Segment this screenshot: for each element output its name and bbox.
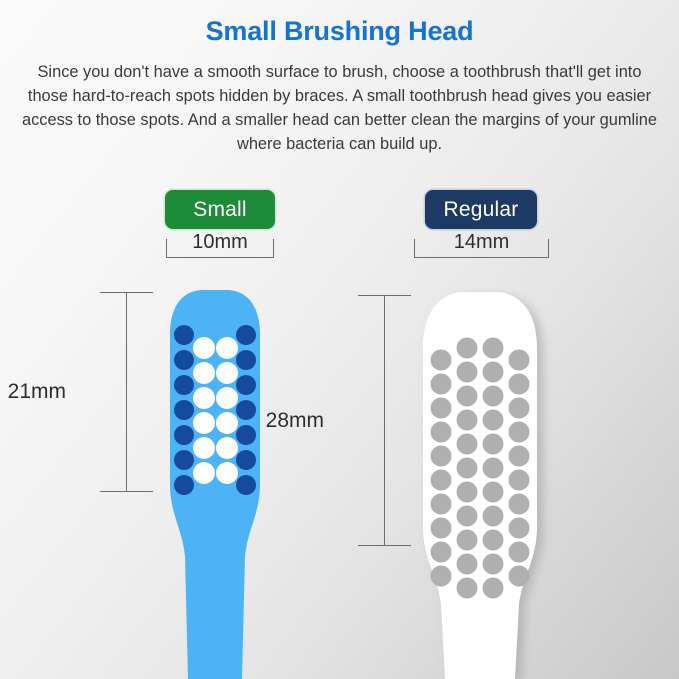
page-title: Small Brushing Head (0, 16, 679, 47)
dimension-label-small-width: 10mm (166, 231, 274, 254)
badge-small: Small (165, 190, 275, 229)
dimension-bar (166, 257, 274, 258)
toothbrush-small (150, 288, 280, 679)
dimension-bar (414, 257, 549, 258)
toothbrush-regular (405, 288, 570, 679)
dimension-bar (384, 295, 385, 546)
dimension-label-small-height: 21mm (8, 380, 66, 404)
toothbrush-regular-graphic (405, 288, 570, 679)
dimension-bar (126, 292, 127, 492)
dimension-label-regular-width: 14mm (414, 231, 549, 254)
badge-regular: Regular (425, 190, 537, 229)
toothbrush-small-graphic (150, 288, 280, 679)
body-paragraph: Since you don't have a smooth surface to… (20, 60, 659, 156)
infographic-canvas: Small Brushing Head Since you don't have… (0, 0, 679, 679)
